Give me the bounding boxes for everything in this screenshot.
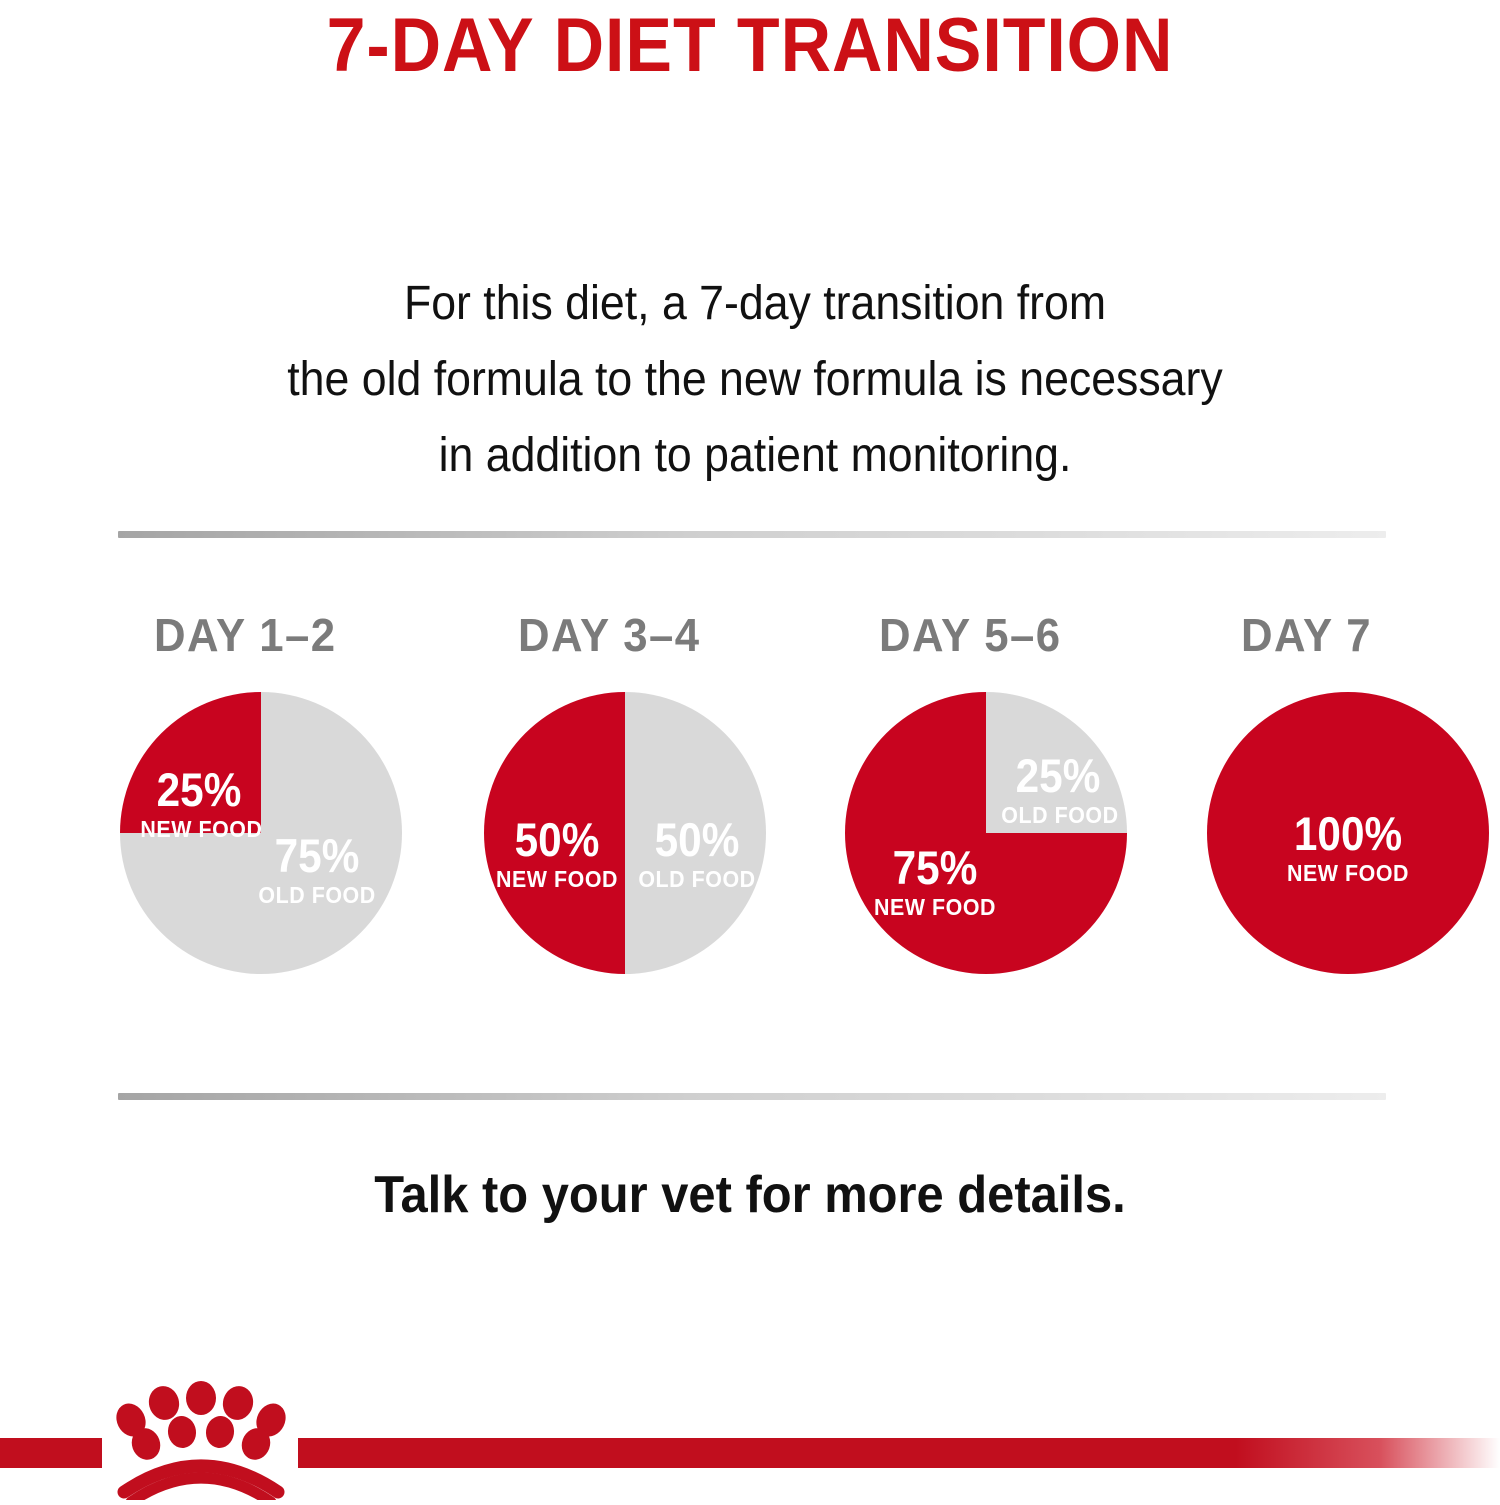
pie-cell-day-5-6: DAY 5–6 25% OLD FOOD 75% NEW FOOD [845, 610, 1127, 974]
pie-disc-day-3-4 [484, 692, 766, 974]
pie-cell-day-1-2: DAY 1–2 25% NEW FOOD 75% OLD FOOD [120, 610, 402, 974]
pie-chart-day-1-2: 25% NEW FOOD 75% OLD FOOD [120, 692, 402, 974]
footer-bar-left [0, 1438, 102, 1468]
intro-line-3: in addition to patient monitoring. [164, 418, 1345, 494]
pie-chart-day-5-6: 25% OLD FOOD 75% NEW FOOD [845, 692, 1127, 974]
day-label-4: DAY 7 [1241, 610, 1477, 660]
pie-disc-day-1-2 [120, 692, 402, 974]
day-label-3: DAY 5–6 [879, 610, 1115, 660]
royal-canin-crown-icon [98, 1380, 304, 1500]
pie-cell-day-3-4: DAY 3–4 50% NEW FOOD 50% OLD FOOD [484, 610, 766, 974]
footer-bar-right [298, 1438, 1500, 1468]
divider-bottom [118, 1093, 1386, 1100]
footnote-text: Talk to your vet for more details. [45, 1165, 1455, 1225]
footer-brand-bar [0, 1380, 1500, 1500]
intro-line-1: For this diet, a 7-day transition from [164, 266, 1345, 342]
day-label-1: DAY 1–2 [154, 610, 390, 660]
pie-disc-day-7 [1207, 692, 1489, 974]
pie-chart-day-7: 100% NEW FOOD [1207, 692, 1489, 974]
pie-disc-day-5-6 [845, 692, 1127, 974]
pie-cell-day-7: DAY 7 100% NEW FOOD [1207, 610, 1489, 974]
intro-line-2: the old formula to the new formula is ne… [164, 342, 1345, 418]
day-label-2: DAY 3–4 [518, 610, 754, 660]
pie-chart-day-3-4: 50% NEW FOOD 50% OLD FOOD [484, 692, 766, 974]
intro-paragraph: For this diet, a 7-day transition from t… [164, 266, 1345, 494]
transition-pie-row: DAY 1–2 25% NEW FOOD 75% OLD FOOD DAY 3–… [0, 610, 1500, 1030]
divider-top [118, 531, 1386, 538]
page-title: 7-DAY DIET TRANSITION [60, 4, 1440, 88]
